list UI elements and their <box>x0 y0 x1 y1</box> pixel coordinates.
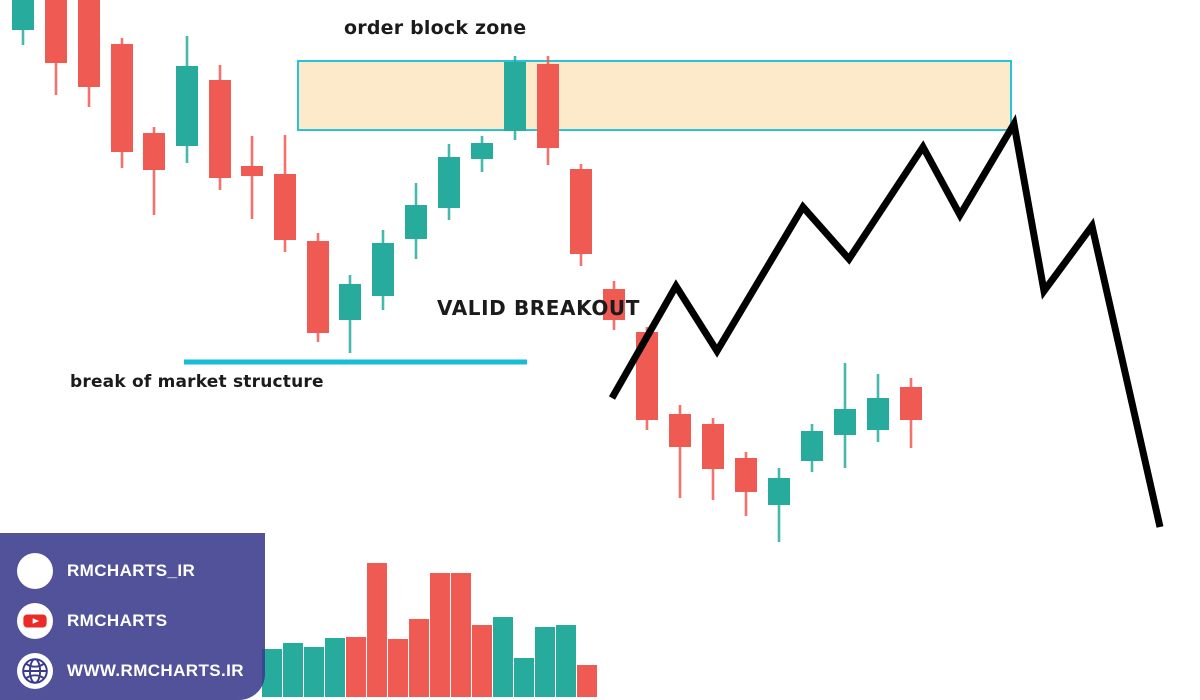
volume-bar <box>577 665 597 697</box>
candle <box>78 0 100 107</box>
volume-bar <box>304 647 324 697</box>
watermark-row-website[interactable]: WWW.RMCHARTS.IR <box>0 646 265 696</box>
label-break-of-market-structure: break of market structure <box>70 372 324 392</box>
volume-bar <box>451 573 471 697</box>
projection-zigzag-line <box>612 124 1160 527</box>
candle-body <box>900 387 922 420</box>
candle <box>801 424 823 472</box>
watermark-row-youtube[interactable]: RMCHARTS <box>0 596 265 646</box>
volume-bar <box>472 625 492 697</box>
volume-bar <box>430 573 450 697</box>
candle-body <box>307 241 329 333</box>
candle <box>405 183 427 259</box>
candle-body <box>12 0 34 30</box>
candle-body <box>78 0 100 87</box>
watermark-label-telegram: RMCHARTS_IR <box>67 561 195 581</box>
candle <box>274 135 296 252</box>
volume-bar <box>346 637 366 697</box>
volume-bar <box>283 643 303 697</box>
volume-bar <box>493 617 513 697</box>
candle <box>570 164 592 266</box>
candle-body <box>176 66 198 146</box>
order-block-zone[interactable] <box>298 61 1011 130</box>
candle-body <box>339 284 361 320</box>
volume-bar <box>514 658 534 697</box>
watermark-label-youtube: RMCHARTS <box>67 611 167 631</box>
candle-body <box>702 424 724 469</box>
candle-body <box>504 62 526 131</box>
candle-body <box>274 174 296 240</box>
candle <box>45 0 67 95</box>
candle <box>504 56 526 140</box>
candle <box>241 136 263 219</box>
label-valid-breakout: VALID BREAKOUT <box>437 296 640 320</box>
candle-body <box>801 431 823 461</box>
volume-bar <box>262 649 282 697</box>
candle <box>768 468 790 542</box>
candle <box>209 65 231 190</box>
candle-body <box>768 478 790 505</box>
candle-wick <box>251 136 254 219</box>
candle <box>900 378 922 448</box>
candle <box>537 56 559 165</box>
volume-bar <box>556 625 576 697</box>
watermark-row-telegram[interactable]: RMCHARTS_IR <box>0 546 265 596</box>
candle-body <box>209 80 231 178</box>
candle-body <box>405 205 427 239</box>
volume-histogram <box>262 563 597 697</box>
candle-body <box>867 398 889 430</box>
candle <box>12 0 34 45</box>
candle-body <box>471 143 493 159</box>
candle-body <box>111 44 133 152</box>
watermark-panel: RMCHARTS_IR RMCHARTS <box>0 533 265 700</box>
candle <box>702 418 724 500</box>
globe-icon <box>17 653 53 689</box>
candle-body <box>241 166 263 176</box>
candle <box>339 275 361 353</box>
candle <box>735 452 757 516</box>
volume-bar <box>367 563 387 697</box>
candle-body <box>45 0 67 63</box>
watermark-label-website: WWW.RMCHARTS.IR <box>67 661 244 681</box>
youtube-icon <box>17 603 53 639</box>
candle <box>438 144 460 220</box>
volume-bar <box>388 639 408 697</box>
candle <box>176 36 198 163</box>
volume-bar <box>409 619 429 697</box>
volume-bar <box>325 638 345 697</box>
telegram-icon <box>17 553 53 589</box>
candle <box>307 233 329 342</box>
order-block-zone-rect[interactable] <box>298 61 1011 130</box>
candle-body <box>669 414 691 447</box>
candle-body <box>834 409 856 435</box>
chart-canvas: order block zone VALID BREAKOUT break of… <box>0 0 1200 700</box>
candle-body <box>735 458 757 492</box>
candle-body <box>570 169 592 254</box>
candle <box>471 136 493 172</box>
candle <box>372 230 394 310</box>
volume-bar <box>535 627 555 697</box>
candle-body <box>438 157 460 208</box>
candle <box>867 374 889 442</box>
candle-body <box>372 243 394 296</box>
candle <box>834 363 856 468</box>
candle-body <box>537 64 559 148</box>
candle <box>143 127 165 215</box>
label-order-block-zone: order block zone <box>344 17 526 39</box>
candle <box>669 405 691 498</box>
candle <box>111 38 133 168</box>
candle-body <box>143 133 165 170</box>
